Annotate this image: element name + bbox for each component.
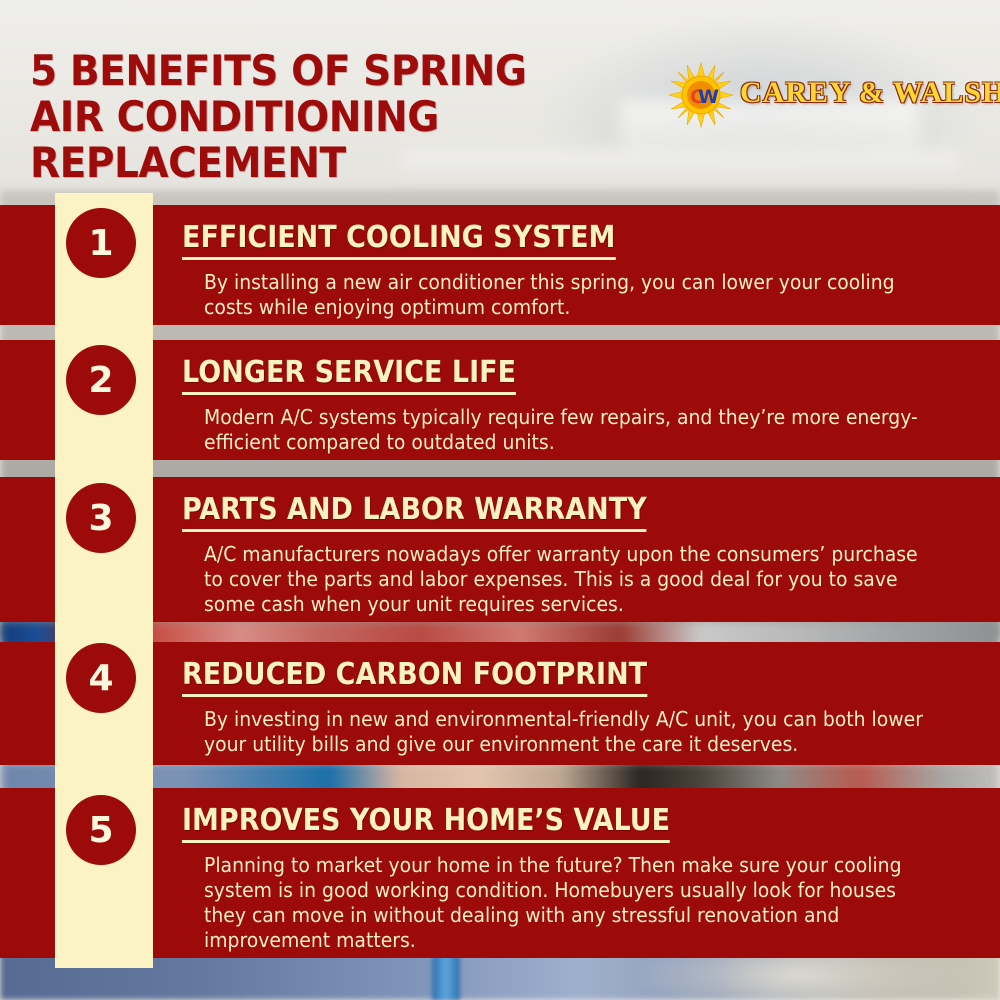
benefit-badge-2[interactable]: 2 xyxy=(66,345,136,415)
benefit-badge-4[interactable]: 4 xyxy=(66,643,136,713)
benefit-text-4: By investing in new and environmental-fr… xyxy=(204,707,924,757)
benefit-badge-5[interactable]: 5 xyxy=(66,795,136,865)
benefit-content-3: PARTS AND LABOR WARRANTY A/C manufacture… xyxy=(182,493,970,617)
logo-monogram-w: W xyxy=(698,86,719,108)
benefit-badge-1[interactable]: 1 xyxy=(66,208,136,278)
benefit-text-1: By installing a new air conditioner this… xyxy=(204,270,924,320)
sun-burst-icon: C W xyxy=(668,62,734,128)
benefit-badge-3[interactable]: 3 xyxy=(66,483,136,553)
benefit-text-5: Planning to market your home in the futu… xyxy=(204,853,924,953)
brand-name-text: CAREY & WALSH xyxy=(740,76,1000,109)
benefit-content-2: LONGER SERVICE LIFE Modern A/C systems t… xyxy=(182,356,970,455)
benefit-heading-4: REDUCED CARBON FOOTPRINT xyxy=(182,658,647,697)
brand-logo[interactable]: C W CAREY & WALSHINC. xyxy=(668,62,978,124)
benefit-content-5: IMPROVES YOUR HOME’S VALUE Planning to m… xyxy=(182,804,970,953)
benefit-text-3: A/C manufacturers nowadays offer warrant… xyxy=(204,542,924,617)
benefit-content-4: REDUCED CARBON FOOTPRINT By investing in… xyxy=(182,658,970,757)
benefit-heading-3: PARTS AND LABOR WARRANTY xyxy=(182,493,647,532)
benefit-content-1: EFFICIENT COOLING SYSTEM By installing a… xyxy=(182,221,970,320)
page-title: 5 BENEFITS OF SPRING AIR CONDITIONING RE… xyxy=(30,48,607,186)
header: 5 BENEFITS OF SPRING AIR CONDITIONING RE… xyxy=(0,0,1000,195)
benefit-text-2: Modern A/C systems typically require few… xyxy=(204,405,924,455)
benefit-heading-1: EFFICIENT COOLING SYSTEM xyxy=(182,221,615,260)
benefit-heading-5: IMPROVES YOUR HOME’S VALUE xyxy=(182,804,670,843)
benefit-heading-2: LONGER SERVICE LIFE xyxy=(182,356,516,395)
brand-name: CAREY & WALSHINC. xyxy=(740,76,1000,110)
